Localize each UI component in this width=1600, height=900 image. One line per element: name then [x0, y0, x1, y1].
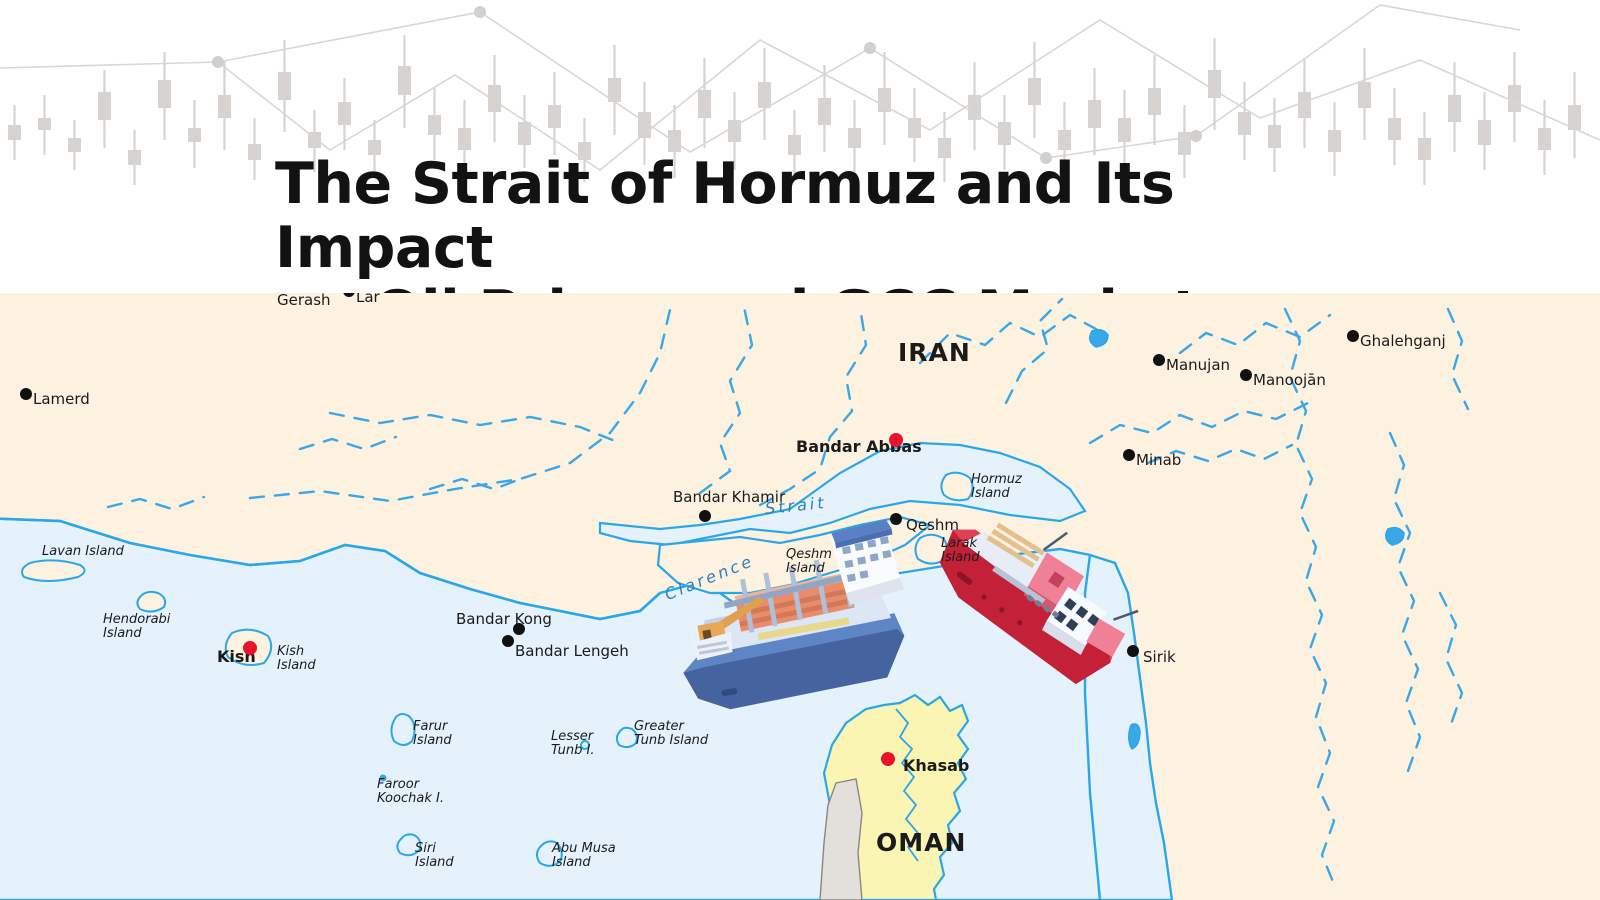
city-dot-bandar-khamir[interactable] — [699, 510, 711, 522]
city-label-lar[interactable]: Lar — [356, 293, 380, 306]
country-label-oman: OMAN — [876, 828, 966, 857]
city-label-bandar-kong[interactable]: Bandar Kong — [456, 610, 552, 628]
lavan-island — [22, 560, 85, 581]
city-dot-manooj-n[interactable] — [1240, 369, 1252, 381]
city-dot-manujan[interactable] — [1153, 354, 1165, 366]
title-line-1: The Strait of Hormuz and Its Impact — [275, 151, 1174, 281]
page-title: The Strait of Hormuz and Its Impact on O… — [275, 152, 1375, 293]
island-label-siri: SiriIsland — [415, 842, 454, 870]
city-label-manooj-n[interactable]: Manoojān — [1253, 371, 1326, 389]
poster-root: The Strait of Hormuz and Its Impact on O… — [0, 0, 1600, 900]
island-label-greater: GreaterTunb Island — [634, 720, 708, 748]
city-dot-lamerd[interactable] — [20, 388, 32, 400]
island-label-abu-musa: Abu MusaIsland — [552, 842, 616, 870]
city-label-sirik[interactable]: Sirik — [1143, 648, 1176, 666]
island-label-larak: LarakIsland — [941, 537, 980, 565]
city-label-minab[interactable]: Minab — [1136, 451, 1181, 469]
city-dot-bandar-abbas[interactable] — [889, 433, 903, 447]
city-dot-khasab[interactable] — [881, 752, 895, 766]
city-dot-minab[interactable] — [1123, 449, 1135, 461]
city-label-ghalehganj[interactable]: Ghalehganj — [1360, 332, 1446, 350]
hormuz-island — [941, 473, 972, 501]
city-label-manujan[interactable]: Manujan — [1166, 356, 1230, 374]
city-label-bandar-lengeh[interactable]: Bandar Lengeh — [515, 642, 629, 660]
country-label-iran: IRAN — [898, 338, 971, 367]
city-dot-qeshm[interactable] — [890, 513, 902, 525]
city-dot-kish[interactable] — [243, 641, 257, 655]
island-label-lavan-island: Lavan Island — [42, 545, 124, 559]
header-banner: The Strait of Hormuz and Its Impact on O… — [0, 0, 1600, 293]
city-dot-bandar-kong[interactable] — [513, 623, 525, 635]
island-label-hendorabi: HendorabiIsland — [103, 613, 170, 641]
city-dot-bandar-lengeh[interactable] — [502, 635, 514, 647]
city-label-gerash[interactable]: Gerash — [277, 293, 331, 309]
island-label-faroor: FaroorKoochak I. — [377, 778, 444, 806]
city-label-lamerd[interactable]: Lamerd — [33, 390, 90, 408]
title-line-2: on Oil Prices and GCC Markets — [275, 279, 1233, 293]
hendorabi-island — [137, 592, 165, 612]
map-region-strait-of-hormuz: IRANOMANGerashLarLamerdGhalehganjManujan… — [0, 293, 1600, 900]
island-label-hormuz: HormuzIsland — [971, 473, 1022, 501]
city-label-qeshm[interactable]: Qeshm — [906, 516, 959, 534]
map-vector-layer — [0, 293, 1600, 900]
island-label-qeshm: QeshmIsland — [786, 548, 832, 576]
city-dot-sirik[interactable] — [1127, 645, 1139, 657]
city-label-khasab[interactable]: Khasab — [903, 756, 969, 775]
city-dot-ghalehganj[interactable] — [1347, 330, 1359, 342]
island-label-kish: KishIsland — [277, 645, 316, 673]
island-label-farur: FarurIsland — [413, 720, 452, 748]
chart-line-a — [218, 5, 1520, 158]
farur-island — [391, 714, 414, 745]
island-label-lesser: LesserTunb I. — [551, 730, 594, 758]
